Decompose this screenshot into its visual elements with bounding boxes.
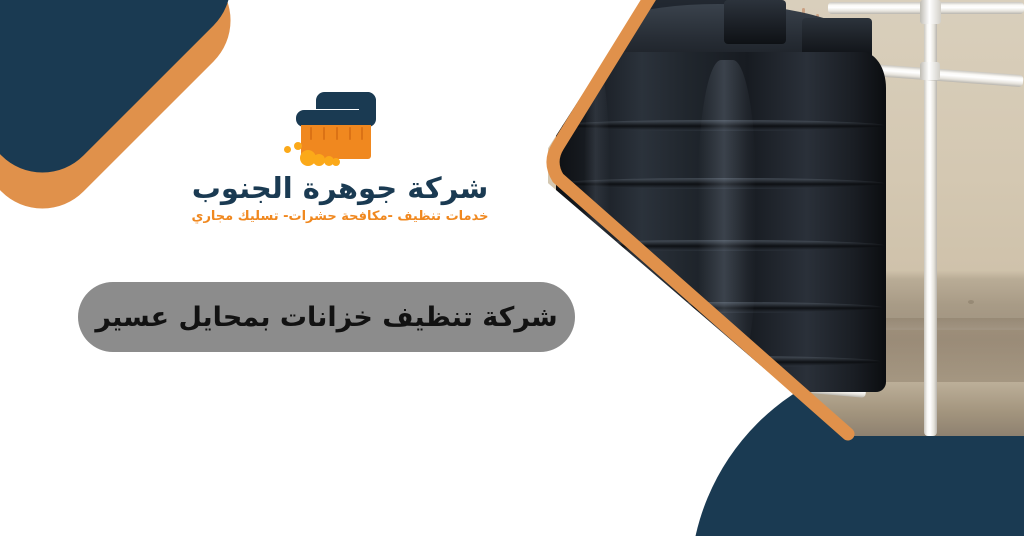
company-name: شركة جوهرة الجنوب (190, 172, 490, 205)
foam-bubble (294, 142, 302, 150)
promotional-banner: شركة جوهرة الجنوب خدمات تنظيف -مكافحة حش… (0, 0, 1024, 536)
bristle-line (361, 127, 363, 140)
bristle-line (349, 127, 351, 140)
photo-panel (548, 0, 1024, 436)
tank-rib (562, 356, 880, 367)
pipe-joint (920, 62, 940, 80)
pipe-joint (920, 0, 941, 24)
page-title: شركة تنظيف خزانات بمحايل عسير (95, 302, 557, 333)
bristle-line (310, 127, 312, 140)
cleaning-brush-icon (280, 88, 400, 166)
ground-strip (548, 382, 1024, 436)
black-water-tank-photo (548, 0, 1024, 436)
foam-bubble (284, 146, 291, 153)
company-logo: شركة جوهرة الجنوب خدمات تنظيف -مكافحة حش… (190, 88, 490, 224)
foam-bubble (332, 158, 340, 166)
tank-inlet-cap (724, 0, 786, 44)
bristle-line (336, 127, 338, 140)
tank-highlight (698, 60, 756, 380)
wall-speck (968, 300, 974, 304)
company-tagline: خدمات تنظيف -مكافحة حشرات- تسليك مجاري (190, 209, 490, 224)
tank-highlight (584, 70, 610, 370)
photo-clip (548, 0, 1024, 436)
bristle-line (323, 127, 325, 140)
page-title-banner: شركة تنظيف خزانات بمحايل عسير (78, 282, 575, 352)
